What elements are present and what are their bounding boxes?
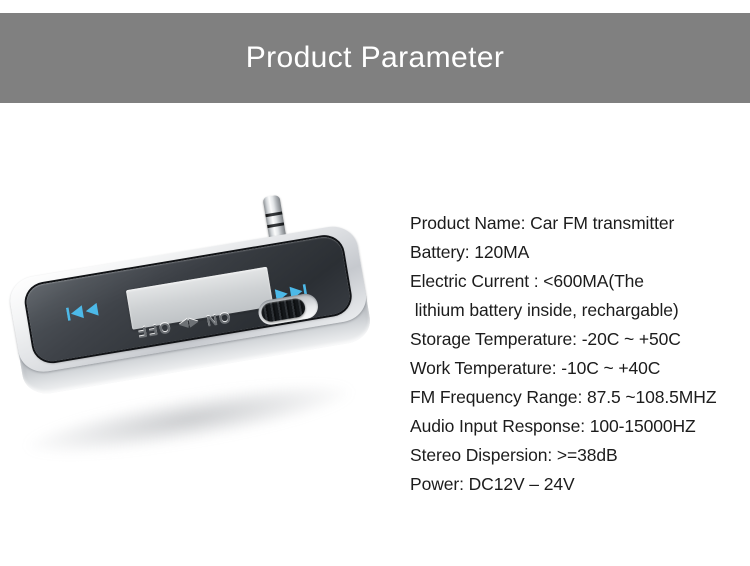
spec-line: Power: DC12V – 24V <box>410 470 740 499</box>
jack-ring-upper <box>265 211 282 217</box>
spec-line: Battery: 120MA <box>410 238 740 267</box>
switch-direction-arrows: ◀▶ <box>177 316 200 332</box>
power-slider-knob[interactable] <box>260 297 307 323</box>
product-photo: ON ◀▶ OFF <box>0 225 400 475</box>
spec-line: Audio Input Response: 100-15000HZ <box>410 412 740 441</box>
switch-label-on: ON <box>204 309 232 330</box>
header-banner: Product Parameter <box>0 13 750 103</box>
product-spec-list: Product Name: Car FM transmitter Battery… <box>410 209 740 499</box>
page-title: Product Parameter <box>246 43 505 73</box>
spec-line: lithium battery inside, rechargable) <box>410 296 740 325</box>
spec-line: Product Name: Car FM transmitter <box>410 209 740 238</box>
spec-line: Stereo Dispersion: >=38dB <box>410 441 740 470</box>
jack-ring-lower <box>267 222 284 228</box>
previous-track-icon[interactable] <box>66 301 103 327</box>
spec-line: Electric Current : <600MA(The <box>410 267 740 296</box>
spec-line: Work Temperature: -10C ~ +40C <box>410 354 740 383</box>
spec-line: FM Frequency Range: 87.5 ~108.5MHZ <box>410 383 740 412</box>
product-photo-stage: ON ◀▶ OFF <box>0 225 400 475</box>
switch-label-off: OFF <box>135 319 172 342</box>
spec-line: Storage Temperature: -20C ~ +50C <box>410 325 740 354</box>
fm-transmitter-device: ON ◀▶ OFF <box>7 223 374 397</box>
